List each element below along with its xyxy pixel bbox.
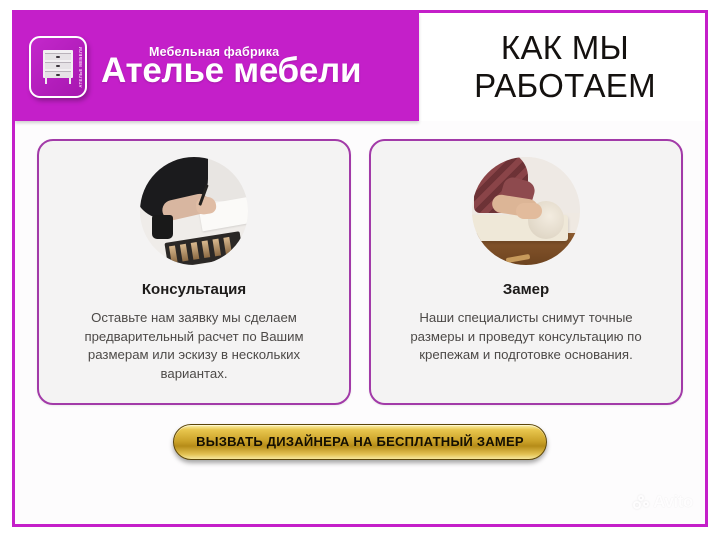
logo-vertical-label: АТЕЛЬЕ МЕБЕЛИ bbox=[78, 46, 83, 87]
page-title-line2: РАБОТАЕМ bbox=[474, 67, 656, 104]
cta-row: ВЫЗВАТЬ ДИЗАЙНЕРА НА БЕСПЛАТНЫЙ ЗАМЕР bbox=[15, 424, 705, 460]
avito-dots-icon bbox=[633, 495, 650, 510]
avito-watermark: Avito bbox=[633, 492, 693, 512]
avito-watermark-label: Avito bbox=[653, 492, 693, 512]
consultation-photo bbox=[140, 157, 248, 265]
brand-bar: АТЕЛЬЕ МЕБЕЛИ Мебельная фабрика Ателье м… bbox=[15, 13, 419, 121]
dresser-icon: АТЕЛЬЕ МЕБЕЛИ bbox=[29, 36, 87, 98]
page-title-line1: КАК МЫ bbox=[501, 29, 629, 66]
call-designer-button[interactable]: ВЫЗВАТЬ ДИЗАЙНЕРА НА БЕСПЛАТНЫЙ ЗАМЕР bbox=[173, 424, 547, 460]
measurement-photo bbox=[472, 157, 580, 265]
brand-name: Ателье мебели bbox=[101, 53, 361, 90]
step-card-measurement: Замер Наши специалисты снимут точные раз… bbox=[369, 139, 683, 405]
step-text: Оставьте нам заявку мы сделаем предварит… bbox=[59, 309, 329, 384]
header: АТЕЛЬЕ МЕБЕЛИ Мебельная фабрика Ателье м… bbox=[15, 13, 705, 121]
step-text: Наши специалисты снимут точные размеры и… bbox=[391, 309, 661, 365]
dresser-glyph bbox=[43, 50, 73, 84]
poster-canvas: АТЕЛЬЕ МЕБЕЛИ Мебельная фабрика Ателье м… bbox=[12, 10, 708, 527]
poster: АТЕЛЬЕ МЕБЕЛИ Мебельная фабрика Ателье м… bbox=[0, 0, 720, 539]
step-title: Консультация bbox=[142, 281, 246, 298]
step-card-consultation: Консультация Оставьте нам заявку мы сдел… bbox=[37, 139, 351, 405]
brand-text: Мебельная фабрика Ателье мебели bbox=[101, 45, 361, 90]
page-title: КАК МЫ РАБОТАЕМ bbox=[419, 13, 705, 121]
steps-list: Консультация Оставьте нам заявку мы сдел… bbox=[15, 121, 705, 405]
step-title: Замер bbox=[503, 281, 549, 298]
